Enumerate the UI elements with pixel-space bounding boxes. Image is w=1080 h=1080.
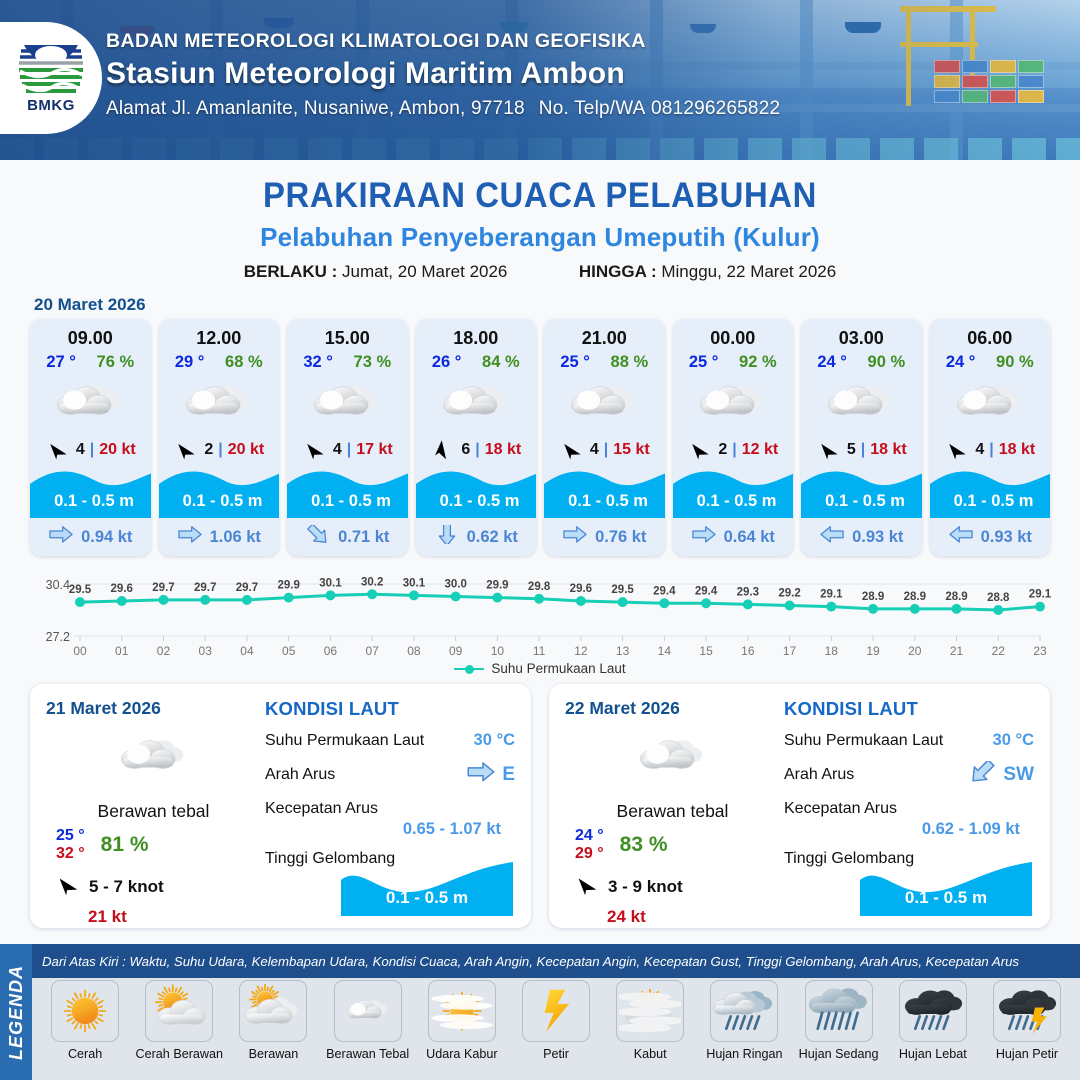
legend-item-label: Hujan Lebat <box>899 1047 967 1061</box>
card-temperature: 27 ° <box>46 353 76 372</box>
sst-value: 30 °C <box>993 731 1034 750</box>
svg-text:08: 08 <box>407 644 421 658</box>
card-gust: 18 kt <box>870 441 906 459</box>
current-direction-value: SW <box>967 761 1034 789</box>
panel-date: 21 Maret 2026 <box>46 698 261 719</box>
panel-left: 21 Maret 2026Berawan tebal25 °32 °81 %5 … <box>46 698 261 914</box>
svg-text:29.7: 29.7 <box>236 582 258 594</box>
bmkg-emblem-icon <box>16 35 86 97</box>
card-wind-row: 4|17 kt <box>287 434 408 466</box>
svg-text:11: 11 <box>533 644 546 658</box>
sst-value: 30 °C <box>474 731 515 750</box>
current-direction-label-row: Arah ArusSW <box>784 761 1034 789</box>
wind-gust-separator: | <box>218 441 222 459</box>
svg-text:28.9: 28.9 <box>945 591 967 603</box>
thunderstorm-rain-icon <box>993 980 1061 1042</box>
panel-temp-min: 24 ° <box>575 827 604 845</box>
card-gust: 20 kt <box>228 441 264 459</box>
svg-text:29.4: 29.4 <box>653 585 676 597</box>
card-time: 09.00 <box>30 319 151 349</box>
panel-wave-band: 0.1 - 0.5 m <box>860 860 1032 916</box>
current-direction-icon <box>466 761 496 789</box>
card-time: 03.00 <box>801 319 922 349</box>
legend-item-label: Udara Kabur <box>426 1047 497 1061</box>
legend-item-label: Hujan Sedang <box>799 1047 879 1061</box>
card-current-speed: 0.71 kt <box>338 528 389 547</box>
legend-section: LEGENDA Dari Atas Kiri : Waktu, Suhu Uda… <box>0 944 1080 1080</box>
svg-text:29.1: 29.1 <box>1029 589 1052 601</box>
current-direction-icon <box>434 525 460 549</box>
card-temperature: 32 ° <box>303 353 333 372</box>
card-wave-band: 0.1 - 0.5 m <box>673 466 794 518</box>
card-weather-icon <box>287 372 408 434</box>
legend-items-row: CerahCerah BerawanBerawanBerawan TebalUd… <box>32 980 1080 1061</box>
legend-label: Suhu Permukaan Laut <box>491 661 625 676</box>
svg-text:29.7: 29.7 <box>194 582 216 594</box>
current-direction-label: Arah Arus <box>265 766 335 784</box>
card-current-speed: 0.62 kt <box>467 528 518 547</box>
svg-text:03: 03 <box>199 644 213 658</box>
svg-text:29.7: 29.7 <box>152 582 174 594</box>
current-speed-value: 0.62 - 1.09 kt <box>784 820 1034 839</box>
svg-text:06: 06 <box>324 644 338 658</box>
card-wind-row: 4|18 kt <box>930 434 1051 466</box>
sst-label: Suhu Permukaan Laut <box>265 732 424 750</box>
card-temperature: 24 ° <box>817 353 847 372</box>
card-current-row: 1.06 kt <box>159 518 280 556</box>
card-humidity: 84 % <box>482 353 520 372</box>
forecast-card: 03.0024 °90 %5|18 kt0.1 - 0.5 m0.93 kt <box>801 319 922 556</box>
card-wind-row: 5|18 kt <box>801 434 922 466</box>
card-current-row: 0.71 kt <box>287 518 408 556</box>
card-wave-height: 0.1 - 0.5 m <box>30 492 151 511</box>
legend-item-label: Hujan Ringan <box>706 1047 782 1061</box>
current-speed-value: 0.65 - 1.07 kt <box>265 820 515 839</box>
card-wind-speed: 4 <box>333 441 342 459</box>
svg-text:29.5: 29.5 <box>69 584 92 596</box>
current-direction-text: E <box>502 764 515 786</box>
card-weather-icon <box>30 372 151 434</box>
current-speed-label: Kecepatan Arus <box>784 800 897 818</box>
sst-chart: 30.427.200010203040506070809101112131415… <box>28 568 1052 658</box>
svg-text:22: 22 <box>992 644 1006 658</box>
card-current-row: 0.93 kt <box>801 518 922 556</box>
wind-direction-icon <box>430 437 456 463</box>
title-block: PRAKIRAAN CUACA PELABUHAN Pelabuhan Peny… <box>0 160 1080 282</box>
card-humidity: 73 % <box>354 353 392 372</box>
station-name: Stasiun Meteorologi Maritim Ambon <box>106 57 780 91</box>
current-direction-label-row: Arah ArusE <box>265 761 515 789</box>
panel-condition: Berawan tebal <box>565 801 780 822</box>
bmkg-logo-text: BMKG <box>27 98 75 113</box>
svg-text:28.9: 28.9 <box>862 591 884 603</box>
card-wave-height: 0.1 - 0.5 m <box>287 492 408 511</box>
svg-text:07: 07 <box>365 644 379 658</box>
light-rain-icon <box>710 980 778 1042</box>
panel-wind-range: 5 - 7 knot <box>89 877 164 897</box>
wind-direction-icon <box>816 437 842 463</box>
card-wind-speed: 2 <box>718 441 727 459</box>
legend-item: Hujan Petir <box>980 980 1074 1061</box>
station-contact: Alamat Jl. Amanlanite, Nusaniwe, Ambon, … <box>106 98 780 120</box>
current-direction-icon <box>48 525 74 549</box>
card-weather-icon <box>544 372 665 434</box>
legend-item: Hujan Sedang <box>792 980 886 1061</box>
current-direction-icon <box>562 525 588 549</box>
wind-direction-icon <box>173 437 199 463</box>
svg-text:30.1: 30.1 <box>319 577 342 589</box>
panel-weather-icon <box>46 725 261 789</box>
bmkg-logo: BMKG <box>0 22 102 134</box>
legend-item: Cerah Berawan <box>132 980 226 1061</box>
card-temp-humidity: 25 °88 % <box>544 349 665 372</box>
page-subtitle: Pelabuhan Penyeberangan Umeputih (Kulur) <box>0 222 1080 253</box>
panel-wave-band: 0.1 - 0.5 m <box>341 860 513 916</box>
svg-text:18: 18 <box>825 644 839 658</box>
wind-gust-separator: | <box>347 441 351 459</box>
svg-text:02: 02 <box>157 644 171 658</box>
svg-text:13: 13 <box>616 644 630 658</box>
svg-text:29.6: 29.6 <box>111 583 133 595</box>
card-wind-row: 4|15 kt <box>544 434 665 466</box>
card-current-speed: 0.94 kt <box>81 528 132 547</box>
legend-item-label: Hujan Petir <box>996 1047 1058 1061</box>
svg-text:19: 19 <box>866 644 880 658</box>
svg-text:12: 12 <box>574 644 588 658</box>
svg-text:29.9: 29.9 <box>486 580 508 592</box>
card-temp-humidity: 27 °76 % <box>30 349 151 372</box>
forecast-card: 06.0024 °90 %4|18 kt0.1 - 0.5 m0.93 kt <box>930 319 1051 556</box>
card-wave-height: 0.1 - 0.5 m <box>544 492 665 511</box>
svg-text:10: 10 <box>491 644 505 658</box>
card-time: 18.00 <box>416 319 537 349</box>
card-temperature: 29 ° <box>175 353 205 372</box>
card-gust: 18 kt <box>999 441 1035 459</box>
page-title: PRAKIRAAN CUACA PELABUHAN <box>32 176 1047 216</box>
card-humidity: 92 % <box>739 353 777 372</box>
legend-item: Cerah <box>38 980 132 1061</box>
legend-item-label: Berawan <box>249 1047 299 1061</box>
phone-label: No. Telp/WA <box>539 98 646 119</box>
current-direction-icon <box>305 525 331 549</box>
wind-gust-separator: | <box>90 441 94 459</box>
card-wave-band: 0.1 - 0.5 m <box>287 466 408 518</box>
infographic-page: BMKG BADAN METEOROLOGI KLIMATOLOGI DAN G… <box>0 0 1080 1080</box>
card-gust: 15 kt <box>613 441 649 459</box>
card-humidity: 68 % <box>225 353 263 372</box>
card-gust: 20 kt <box>99 441 135 459</box>
current-direction-text: SW <box>1003 764 1034 786</box>
svg-text:30.1: 30.1 <box>403 577 426 589</box>
svg-text:21: 21 <box>950 644 964 658</box>
card-temp-humidity: 25 °92 % <box>673 349 794 372</box>
card-weather-icon <box>416 372 537 434</box>
sea-conditions-title: KONDISI LAUT <box>265 698 515 720</box>
card-wind-speed: 4 <box>76 441 85 459</box>
svg-text:29.6: 29.6 <box>570 583 592 595</box>
legend-item-label: Kabut <box>634 1047 667 1061</box>
card-temp-humidity: 24 °90 % <box>801 349 922 372</box>
card-current-speed: 0.93 kt <box>981 528 1032 547</box>
card-wave-height: 0.1 - 0.5 m <box>416 492 537 511</box>
current-direction-icon <box>177 525 203 549</box>
wind-direction-icon <box>559 437 585 463</box>
svg-text:28.9: 28.9 <box>904 591 926 603</box>
forecast-date-label: 20 Maret 2026 <box>34 295 1080 315</box>
svg-text:29.9: 29.9 <box>278 580 300 592</box>
svg-text:29.5: 29.5 <box>611 584 634 596</box>
svg-text:01: 01 <box>115 644 129 658</box>
panel-humidity: 81 % <box>101 833 149 857</box>
current-direction-icon <box>948 525 974 549</box>
card-temp-humidity: 29 °68 % <box>159 349 280 372</box>
svg-text:28.8: 28.8 <box>987 592 1010 604</box>
svg-text:30.0: 30.0 <box>444 579 466 591</box>
current-direction-icon <box>691 525 717 549</box>
card-current-speed: 0.64 kt <box>724 528 775 547</box>
legend-item-label: Cerah <box>68 1047 102 1061</box>
moderate-rain-icon <box>805 980 873 1042</box>
svg-text:00: 00 <box>73 644 87 658</box>
card-weather-icon <box>673 372 794 434</box>
legend-item-label: Cerah Berawan <box>136 1047 224 1061</box>
svg-text:29.4: 29.4 <box>695 585 718 597</box>
legend-note: Dari Atas Kiri : Waktu, Suhu Udara, Kele… <box>32 944 1080 978</box>
thick-cloud-icon <box>334 980 402 1042</box>
fog-icon <box>616 980 684 1042</box>
forecast-card: 09.0027 °76 %4|20 kt0.1 - 0.5 m0.94 kt <box>30 319 151 556</box>
svg-text:20: 20 <box>908 644 922 658</box>
panel-weather-icon <box>565 725 780 789</box>
header-text-block: BADAN METEOROLOGI KLIMATOLOGI DAN GEOFIS… <box>106 30 780 120</box>
card-current-row: 0.62 kt <box>416 518 537 556</box>
phone-number: 081296265822 <box>651 98 780 119</box>
card-temp-humidity: 32 °73 % <box>287 349 408 372</box>
validity-range: BERLAKU : Jumat, 20 Maret 2026 HINGGA : … <box>0 262 1080 282</box>
card-time: 15.00 <box>287 319 408 349</box>
legend-marker-icon <box>454 664 484 674</box>
svg-text:29.8: 29.8 <box>528 581 551 593</box>
panel-temp-range: 25 °32 ° <box>56 827 85 863</box>
card-wind-row: 2|12 kt <box>673 434 794 466</box>
panel-wind-row: 5 - 7 knot <box>46 871 261 904</box>
wind-direction-icon <box>302 437 328 463</box>
sst-label-row: Suhu Permukaan Laut30 °C <box>265 731 515 750</box>
card-wave-band: 0.1 - 0.5 m <box>930 466 1051 518</box>
card-gust: 18 kt <box>485 441 521 459</box>
card-wave-band: 0.1 - 0.5 m <box>416 466 537 518</box>
panel-date: 22 Maret 2026 <box>565 698 780 719</box>
card-temperature: 25 ° <box>689 353 719 372</box>
current-direction-icon <box>819 525 845 549</box>
panel-condition: Berawan tebal <box>46 801 261 822</box>
legend-item: Berawan Tebal <box>321 980 415 1061</box>
card-current-row: 0.93 kt <box>930 518 1051 556</box>
wind-direction-icon <box>687 437 713 463</box>
haze-sun-icon <box>428 980 496 1042</box>
wind-direction-icon <box>45 437 71 463</box>
lightning-icon <box>522 980 590 1042</box>
sst-label-row: Suhu Permukaan Laut30 °C <box>784 731 1034 750</box>
valid-until-value: Minggu, 22 Maret 2026 <box>661 262 836 281</box>
sst-label: Suhu Permukaan Laut <box>784 732 943 750</box>
panel-wind-range: 3 - 9 knot <box>608 877 683 897</box>
station-address: Alamat Jl. Amanlanite, Nusaniwe, Ambon, … <box>106 98 525 119</box>
current-direction-value: E <box>466 761 515 789</box>
svg-text:17: 17 <box>783 644 797 658</box>
card-humidity: 76 % <box>97 353 135 372</box>
current-speed-label-row: Kecepatan Arus <box>784 800 1034 818</box>
card-time: 06.00 <box>930 319 1051 349</box>
page-header: BMKG BADAN METEOROLOGI KLIMATOLOGI DAN G… <box>0 0 1080 160</box>
card-wind-row: 4|20 kt <box>30 434 151 466</box>
card-humidity: 88 % <box>611 353 649 372</box>
svg-text:23: 23 <box>1033 644 1047 658</box>
svg-text:29.1: 29.1 <box>820 589 843 601</box>
sun-cloud-icon <box>145 980 213 1042</box>
panel-wave-value: 0.1 - 0.5 m <box>860 888 1032 908</box>
heavy-rain-icon <box>899 980 967 1042</box>
wind-gust-separator: | <box>732 441 736 459</box>
svg-text:04: 04 <box>240 644 254 658</box>
current-direction-label: Arah Arus <box>784 766 854 784</box>
card-gust: 12 kt <box>742 441 778 459</box>
panel-sea-conditions: KONDISI LAUTSuhu Permukaan Laut30 °CArah… <box>780 698 1034 914</box>
svg-text:15: 15 <box>699 644 713 658</box>
sun-icon <box>51 980 119 1042</box>
card-humidity: 90 % <box>868 353 906 372</box>
card-wave-band: 0.1 - 0.5 m <box>159 466 280 518</box>
panel-sea-conditions: KONDISI LAUTSuhu Permukaan Laut30 °CArah… <box>261 698 515 914</box>
panel-temp-max: 29 ° <box>575 845 604 863</box>
sea-conditions-title: KONDISI LAUT <box>784 698 1034 720</box>
current-direction-icon <box>967 761 997 789</box>
chart-legend: Suhu Permukaan Laut <box>0 661 1080 676</box>
card-current-speed: 0.76 kt <box>595 528 646 547</box>
wind-direction-icon <box>54 871 82 904</box>
card-wave-height: 0.1 - 0.5 m <box>801 492 922 511</box>
card-humidity: 90 % <box>996 353 1034 372</box>
wind-gust-separator: | <box>604 441 608 459</box>
card-gust: 17 kt <box>356 441 392 459</box>
card-wind-speed: 6 <box>461 441 470 459</box>
valid-until-label: HINGGA : <box>579 262 657 281</box>
legend-side-banner: LEGENDA <box>0 944 32 1080</box>
valid-from-value: Jumat, 20 Maret 2026 <box>342 262 507 281</box>
card-wind-speed: 5 <box>847 441 856 459</box>
legend-item: Udara Kabur <box>415 980 509 1061</box>
card-current-speed: 1.06 kt <box>210 528 261 547</box>
legend-item: Kabut <box>603 980 697 1061</box>
wind-gust-separator: | <box>475 441 479 459</box>
panel-gust: 21 kt <box>46 907 261 927</box>
svg-text:09: 09 <box>449 644 463 658</box>
card-current-speed: 0.93 kt <box>852 528 903 547</box>
forecast-card: 12.0029 °68 %2|20 kt0.1 - 0.5 m1.06 kt <box>159 319 280 556</box>
svg-text:30.2: 30.2 <box>361 576 383 588</box>
card-wind-speed: 4 <box>590 441 599 459</box>
current-speed-label: Kecepatan Arus <box>265 800 378 818</box>
panel-left: 22 Maret 2026Berawan tebal24 °29 °83 %3 … <box>565 698 780 914</box>
svg-text:29.2: 29.2 <box>778 588 800 600</box>
card-temperature: 26 ° <box>432 353 462 372</box>
card-temperature: 24 ° <box>946 353 976 372</box>
card-current-row: 0.64 kt <box>673 518 794 556</box>
card-wave-height: 0.1 - 0.5 m <box>159 492 280 511</box>
card-time: 12.00 <box>159 319 280 349</box>
legend-item-label: Berawan Tebal <box>326 1047 409 1061</box>
panel-temp-humidity: 25 °32 °81 % <box>46 827 261 863</box>
card-temperature: 25 ° <box>560 353 590 372</box>
valid-from-label: BERLAKU : <box>244 262 338 281</box>
current-speed-label-row: Kecepatan Arus <box>265 800 515 818</box>
hourly-forecast-row: 09.0027 °76 %4|20 kt0.1 - 0.5 m0.94 kt12… <box>0 319 1080 556</box>
forecast-card: 21.0025 °88 %4|15 kt0.1 - 0.5 m0.76 kt <box>544 319 665 556</box>
svg-text:14: 14 <box>658 644 672 658</box>
card-temp-humidity: 26 °84 % <box>416 349 537 372</box>
card-current-row: 0.94 kt <box>30 518 151 556</box>
card-wave-band: 0.1 - 0.5 m <box>801 466 922 518</box>
legend-item: Hujan Lebat <box>886 980 980 1061</box>
card-wave-height: 0.1 - 0.5 m <box>673 492 794 511</box>
legend-item: Hujan Ringan <box>697 980 791 1061</box>
wind-direction-icon <box>944 437 970 463</box>
daily-panels-row: 21 Maret 2026Berawan tebal25 °32 °81 %5 … <box>0 676 1080 928</box>
legend-item-label: Petir <box>543 1047 569 1061</box>
legend-item: Petir <box>509 980 603 1061</box>
panel-gust: 24 kt <box>565 907 780 927</box>
card-weather-icon <box>159 372 280 434</box>
card-wave-band: 0.1 - 0.5 m <box>544 466 665 518</box>
panel-temp-humidity: 24 °29 °83 % <box>565 827 780 863</box>
panel-temp-range: 24 °29 ° <box>575 827 604 863</box>
card-wind-speed: 4 <box>975 441 984 459</box>
card-wind-row: 6|18 kt <box>416 434 537 466</box>
forecast-card: 00.0025 °92 %2|12 kt0.1 - 0.5 m0.64 kt <box>673 319 794 556</box>
card-wave-height: 0.1 - 0.5 m <box>930 492 1051 511</box>
svg-text:05: 05 <box>282 644 296 658</box>
card-wave-band: 0.1 - 0.5 m <box>30 466 151 518</box>
svg-text:29.3: 29.3 <box>737 586 759 598</box>
card-weather-icon <box>801 372 922 434</box>
svg-text:27.2: 27.2 <box>46 630 70 644</box>
svg-text:30.4: 30.4 <box>46 578 70 592</box>
card-time: 21.00 <box>544 319 665 349</box>
panel-humidity: 83 % <box>620 833 668 857</box>
daily-forecast-panel: 22 Maret 2026Berawan tebal24 °29 °83 %3 … <box>549 684 1050 928</box>
daily-forecast-panel: 21 Maret 2026Berawan tebal25 °32 °81 %5 … <box>30 684 531 928</box>
forecast-card: 18.0026 °84 %6|18 kt0.1 - 0.5 m0.62 kt <box>416 319 537 556</box>
wind-direction-icon <box>573 871 601 904</box>
panel-wind-row: 3 - 9 knot <box>565 871 780 904</box>
panel-temp-min: 25 ° <box>56 827 85 845</box>
card-weather-icon <box>930 372 1051 434</box>
card-time: 00.00 <box>673 319 794 349</box>
legend-item: Berawan <box>226 980 320 1061</box>
agency-name: BADAN METEOROLOGI KLIMATOLOGI DAN GEOFIS… <box>106 30 780 53</box>
card-wind-speed: 2 <box>204 441 213 459</box>
panel-temp-max: 32 ° <box>56 845 85 863</box>
svg-text:16: 16 <box>741 644 755 658</box>
forecast-card: 15.0032 °73 %4|17 kt0.1 - 0.5 m0.71 kt <box>287 319 408 556</box>
legend-side-title: LEGENDA <box>6 964 27 1059</box>
panel-wave-value: 0.1 - 0.5 m <box>341 888 513 908</box>
wind-gust-separator: | <box>989 441 993 459</box>
card-temp-humidity: 24 °90 % <box>930 349 1051 372</box>
wind-gust-separator: | <box>861 441 865 459</box>
card-current-row: 0.76 kt <box>544 518 665 556</box>
card-wind-row: 2|20 kt <box>159 434 280 466</box>
